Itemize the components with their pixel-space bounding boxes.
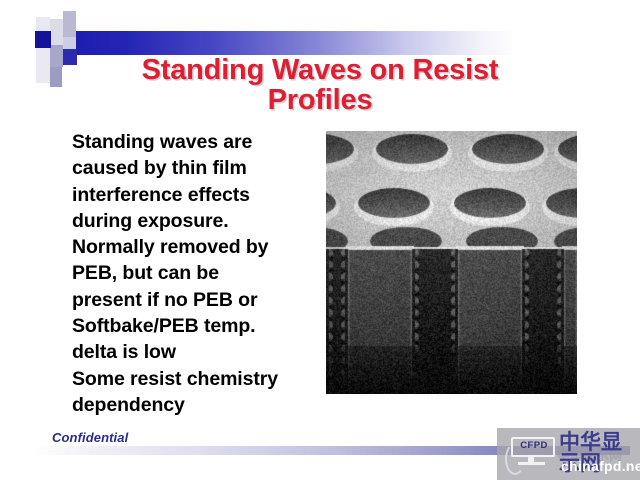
slide-body-text: Standing waves are caused by thin film i… — [72, 129, 322, 418]
watermark-url: chinafpd.net — [561, 459, 640, 473]
logo-bar-1 — [36, 17, 50, 83]
logo-square-dark-1 — [35, 31, 51, 48]
logo-bar-4 — [50, 45, 63, 67]
logo-bar-6 — [63, 37, 76, 49]
logo-square-dark-2 — [63, 49, 77, 65]
footer-confidential-label: Confidential — [52, 430, 128, 445]
logo-bar-5 — [50, 67, 62, 87]
sem-micrograph-canvas — [326, 131, 577, 394]
logo-bar-2 — [50, 19, 63, 45]
logo-mark-icon — [30, 9, 86, 87]
sem-micrograph — [326, 131, 577, 394]
monitor-base-icon — [518, 462, 545, 465]
watermark-overlay: CFPD 中华显示网 中华显示网 chinafpd.net — [497, 428, 640, 480]
watermark-monitor-label: CFPD — [514, 440, 554, 451]
header-gradient-band — [58, 31, 516, 55]
monitor-icon: CFPD — [505, 437, 557, 467]
slide-canvas: Standing Waves on Resist Profiles Standi… — [0, 0, 640, 480]
slide-title: Standing Waves on Resist Profiles — [95, 55, 545, 115]
